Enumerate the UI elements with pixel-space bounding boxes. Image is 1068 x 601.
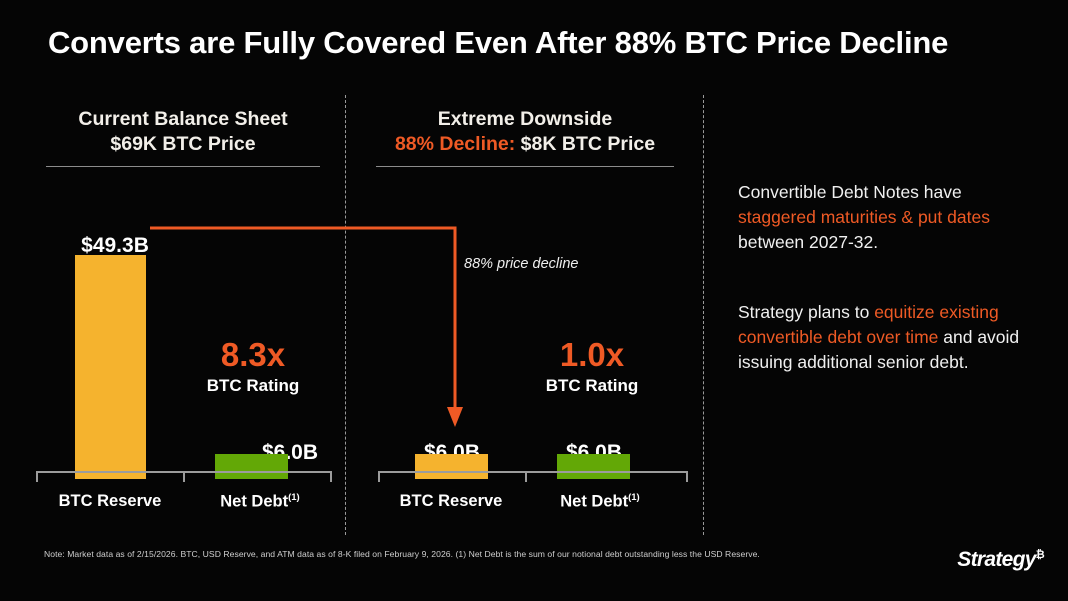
left-panel-heading-line1: Current Balance Sheet [38, 107, 328, 132]
commentary-1-part2: between 2027-32. [738, 232, 878, 252]
right-panel-heading-accent: 88% Decline: [395, 133, 515, 155]
left-panel-heading-rule [46, 166, 320, 167]
callout-caption-left: BTC Rating [173, 375, 333, 397]
left-panel-heading: Current Balance Sheet $69K BTC Price [38, 107, 328, 167]
chart-axis-left [36, 471, 332, 481]
commentary-1-accent: staggered maturities & put dates [738, 207, 990, 227]
category-label-net-debt-left: Net Debt(1) [181, 492, 339, 512]
bar-btc-reserve-left [75, 255, 146, 479]
strategy-logo: Strategy₿ [957, 548, 1044, 572]
category-label-net-debt-left-text: Net Debt [220, 492, 288, 510]
footnote-mark-left: (1) [288, 492, 300, 503]
category-label-btc-reserve-left: BTC Reserve [31, 492, 189, 511]
right-panel-heading-rest: $8K BTC Price [515, 133, 655, 155]
slide-canvas: Converts are Fully Covered Even After 88… [0, 0, 1068, 601]
commentary-equitize-plan: Strategy plans to equitize existing conv… [738, 300, 1038, 375]
price-decline-label: 88% price decline [464, 256, 578, 272]
right-panel-heading-line1: Extreme Downside [360, 107, 690, 132]
strategy-logo-text: Strategy [957, 548, 1035, 571]
footnote-text: Note: Market data as of 2/15/2026. BTC, … [44, 549, 760, 559]
page-title: Converts are Fully Covered Even After 88… [48, 25, 1028, 61]
category-label-net-debt-right: Net Debt(1) [521, 492, 679, 512]
callout-btc-rating-right: 1.0x BTC Rating [512, 337, 672, 397]
callout-multiple-left: 8.3x [173, 337, 333, 373]
category-label-btc-reserve-right: BTC Reserve [372, 492, 530, 511]
left-panel-heading-line2: $69K BTC Price [38, 132, 328, 157]
callout-multiple-right: 1.0x [512, 337, 672, 373]
commentary-1-part1: Convertible Debt Notes have [738, 182, 962, 202]
footnote-mark-right: (1) [628, 492, 640, 503]
panel-divider-right [703, 95, 704, 535]
right-panel-heading: Extreme Downside 88% Decline: $8K BTC Pr… [360, 107, 690, 167]
right-panel-heading-rule [376, 166, 674, 167]
right-panel-heading-line2: 88% Decline: $8K BTC Price [360, 132, 690, 157]
category-label-net-debt-right-text: Net Debt [560, 492, 628, 510]
panel-divider-left [345, 95, 346, 535]
chart-axis-right [378, 471, 688, 481]
commentary-2-part1: Strategy plans to [738, 302, 874, 322]
callout-btc-rating-left: 8.3x BTC Rating [173, 337, 333, 397]
bitcoin-icon: ₿ [1036, 549, 1044, 561]
callout-caption-right: BTC Rating [512, 375, 672, 397]
commentary-convertible-debt: Convertible Debt Notes have staggered ma… [738, 180, 1038, 255]
